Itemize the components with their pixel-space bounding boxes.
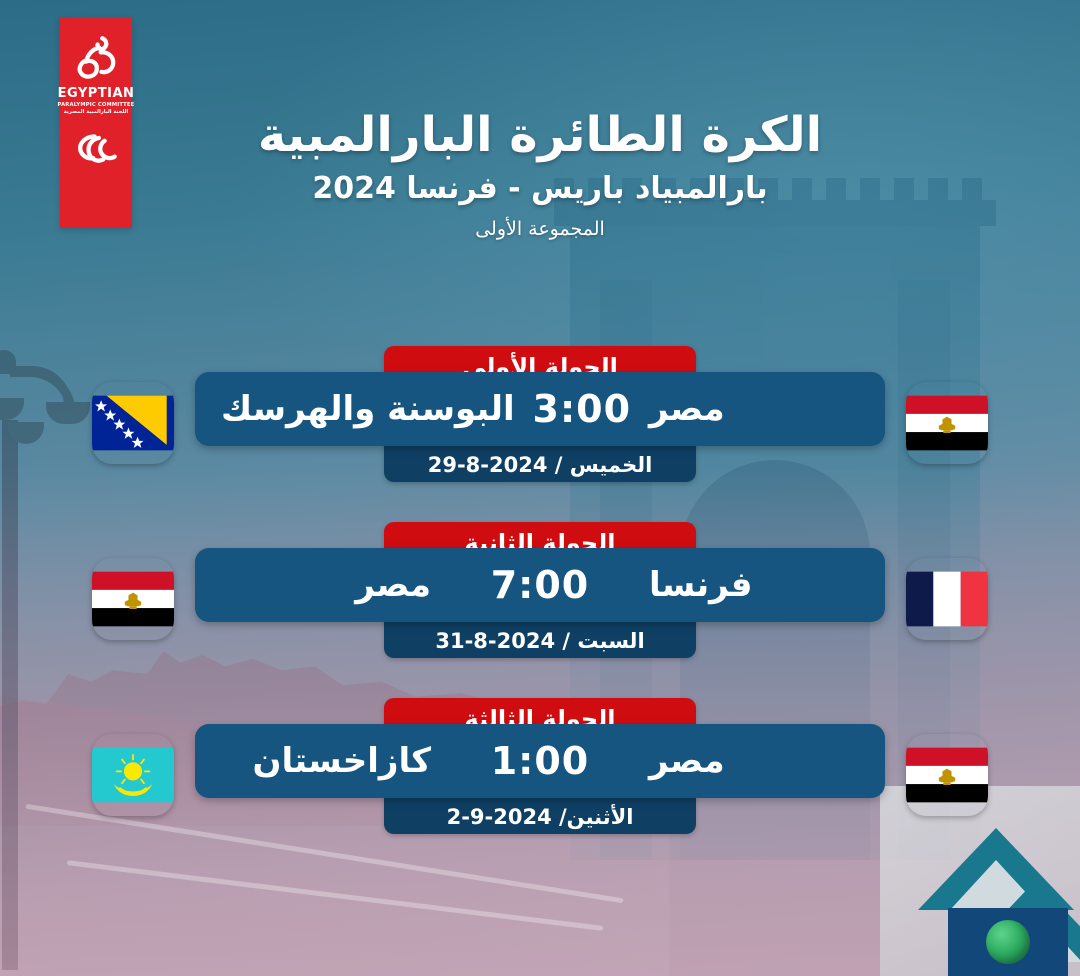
egypt-flag [906, 734, 988, 816]
away-team-name: مصر [221, 565, 431, 605]
logo-name-en: EGYPTIAN [58, 86, 135, 101]
egyptian-paralympic-athlete-icon [71, 32, 121, 82]
match-list: الجولة الأولى الخميس / 2024-8-29 مصر 3:0… [0, 340, 1080, 868]
away-team-name: البوسنة والهرسك [221, 389, 515, 429]
match-row: الجولة الثانية السبت / 2024-8-31 فرنسا 7… [0, 516, 1080, 692]
match-row: الجولة الثالثة الأثنين/ 2024-9-2 مصر 1:0… [0, 692, 1080, 868]
match-bar: مصر 1:00 كازاخستان [195, 724, 885, 798]
match-time: 3:00 [515, 387, 649, 431]
kazakhstan-flag [92, 734, 174, 816]
corner-badge [948, 908, 1068, 976]
egypt-flag [906, 382, 988, 464]
away-team-name: كازاخستان [221, 741, 431, 781]
match-row: الجولة الأولى الخميس / 2024-8-29 مصر 3:0… [0, 340, 1080, 516]
france-flag [906, 558, 988, 640]
header-titles: الكرة الطائرة البارالمبية بارالمبياد بار… [0, 108, 1080, 240]
match-time: 7:00 [431, 563, 649, 607]
page-subtitle: بارالمبياد باريس - فرنسا 2024 [0, 171, 1080, 206]
match-bar: مصر 3:00 البوسنة والهرسك [195, 372, 885, 446]
green-globe-icon [986, 920, 1030, 964]
bosnia-herzegovina-flag [92, 382, 174, 464]
poster-root: EGYPTIAN PARALYMPIC COMMITTEE اللجنة الب… [0, 0, 1080, 976]
home-team-name: فرنسا [649, 565, 859, 605]
page-title: الكرة الطائرة البارالمبية [0, 108, 1080, 163]
match-bar: فرنسا 7:00 مصر [195, 548, 885, 622]
match-time: 1:00 [431, 739, 649, 783]
home-team-name: مصر [649, 741, 859, 781]
egypt-flag [92, 558, 174, 640]
home-team-name: مصر [649, 389, 859, 429]
group-label: المجموعة الأولى [0, 218, 1080, 240]
